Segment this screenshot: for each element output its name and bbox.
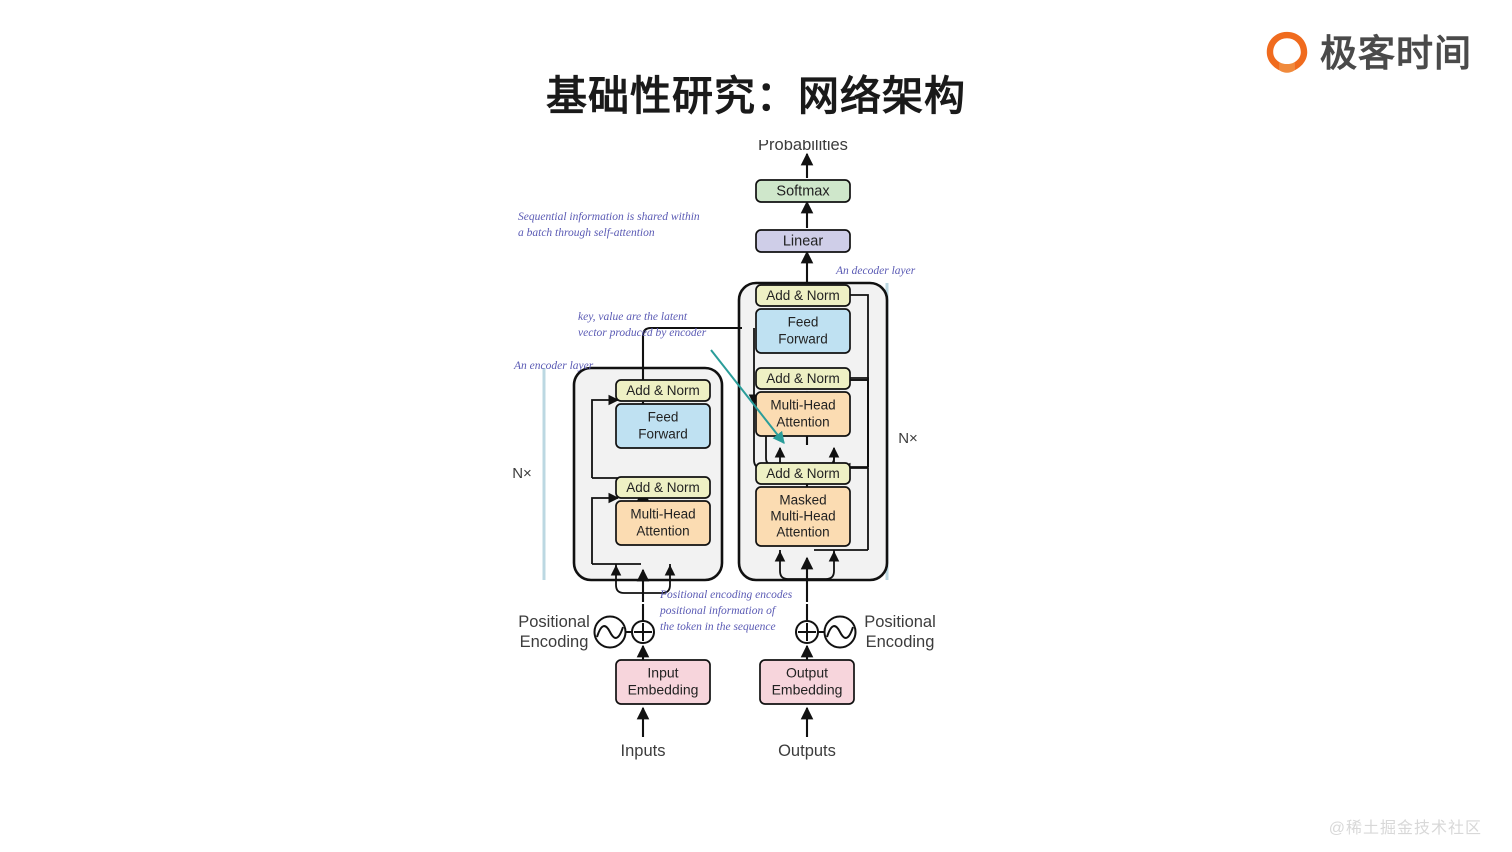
- encoder-mha-label-2: Attention: [636, 524, 689, 539]
- encoder-nx-label: N×: [512, 465, 532, 482]
- positional-encoding-right-label-2: Encoding: [866, 633, 935, 651]
- decoder-add-norm-label-mid: Add & Norm: [766, 371, 840, 386]
- positional-encoding-left-label-2: Encoding: [520, 633, 589, 651]
- input-embedding-label-2: Embedding: [628, 682, 699, 698]
- softmax-block: Softmax: [756, 180, 850, 202]
- decoder-add-norm-label-bottom: Add & Norm: [766, 466, 840, 481]
- encoder-feed-forward-block: Feed Forward: [616, 404, 710, 448]
- outputs-label-1: Outputs: [778, 742, 836, 760]
- positional-encoding-right-label-1: Positional: [864, 613, 936, 631]
- output-embedding-label-2: Embedding: [772, 682, 843, 698]
- inputs-label: Inputs: [621, 742, 666, 760]
- positional-encoding-right: [796, 617, 856, 648]
- masked-mha-label-1: Masked: [779, 493, 826, 508]
- positional-encoding-note: Positional encoding encodes positional i…: [659, 589, 793, 633]
- linear-block: Linear: [756, 230, 850, 252]
- encoder-latent-note-line-1: key, value are the latent: [578, 311, 688, 323]
- encoder-ffn-label-1: Feed: [648, 410, 679, 425]
- softmax-label: Softmax: [776, 183, 830, 199]
- decoder-add-norm-block-bottom: Add & Norm: [756, 463, 850, 484]
- positional-encoding-left: [595, 617, 655, 648]
- decoder-ffn-label-1: Feed: [788, 315, 819, 330]
- decoder-cross-attention-block: Multi-Head Attention: [756, 392, 850, 436]
- decoder-nx-label: N×: [898, 430, 918, 447]
- diagram-canvas: Add & Norm Feed Forward Add & Norm Multi…: [496, 140, 1016, 760]
- encoder-latent-note-line-2: vector produced by encoder: [578, 327, 707, 339]
- masked-mha-label-3: Attention: [776, 525, 829, 540]
- output-embedding-block: Output Embedding: [760, 660, 854, 704]
- decoder-cross-mha-label-2: Attention: [776, 415, 829, 430]
- transformer-architecture-diagram: Add & Norm Feed Forward Add & Norm Multi…: [0, 140, 1512, 760]
- decoder-cross-mha-label-1: Multi-Head: [770, 398, 835, 413]
- positional-encoding-note-line-3: the token in the sequence: [660, 621, 776, 633]
- linear-label: Linear: [783, 233, 823, 249]
- encoder-multi-head-attention-block: Multi-Head Attention: [616, 501, 710, 545]
- encoder-add-norm-block: Add & Norm: [616, 380, 710, 401]
- encoder-layer-note: An encoder layer: [513, 360, 594, 372]
- positional-encoding-note-line-1: Positional encoding encodes: [659, 589, 793, 601]
- output-probabilities-label-2: Probabilities: [758, 140, 848, 154]
- decoder-layer-note: An decoder layer: [835, 265, 916, 277]
- output-embedding-label-1: Output: [786, 665, 828, 681]
- input-embedding-block: Input Embedding: [616, 660, 710, 704]
- encoder-mha-label-1: Multi-Head: [630, 507, 695, 522]
- input-embedding-label-1: Input: [647, 665, 678, 681]
- positional-encoding-note-line-2: positional information of: [659, 605, 777, 617]
- self-attention-note-line-2: a batch through self-attention: [518, 227, 655, 239]
- positional-encoding-left-label-1: Positional: [518, 613, 590, 631]
- decoder-ffn-label-2: Forward: [778, 332, 828, 347]
- decoder-feed-forward-block: Feed Forward: [756, 309, 850, 353]
- decoder-add-norm-label-top: Add & Norm: [766, 288, 840, 303]
- encoder-add-norm-block-2: Add & Norm: [616, 477, 710, 498]
- encoder-ffn-label-2: Forward: [638, 427, 688, 442]
- watermark: @稀土掘金技术社区: [1329, 814, 1482, 838]
- encoder-latent-note: key, value are the latent vector produce…: [578, 311, 707, 339]
- masked-mha-label-2: Multi-Head: [770, 509, 835, 524]
- encoder-add-norm-label: Add & Norm: [626, 383, 700, 398]
- page-title: 基础性研究：网络架构: [0, 62, 1512, 122]
- encoder-add-norm-label-2: Add & Norm: [626, 480, 700, 495]
- decoder-add-norm-block-mid: Add & Norm: [756, 368, 850, 389]
- decoder-masked-attention-block: Masked Multi-Head Attention: [756, 487, 850, 546]
- self-attention-note: Sequential information is shared within …: [518, 211, 700, 239]
- decoder-add-norm-block-top: Add & Norm: [756, 285, 850, 306]
- self-attention-note-line-1: Sequential information is shared within: [518, 211, 700, 223]
